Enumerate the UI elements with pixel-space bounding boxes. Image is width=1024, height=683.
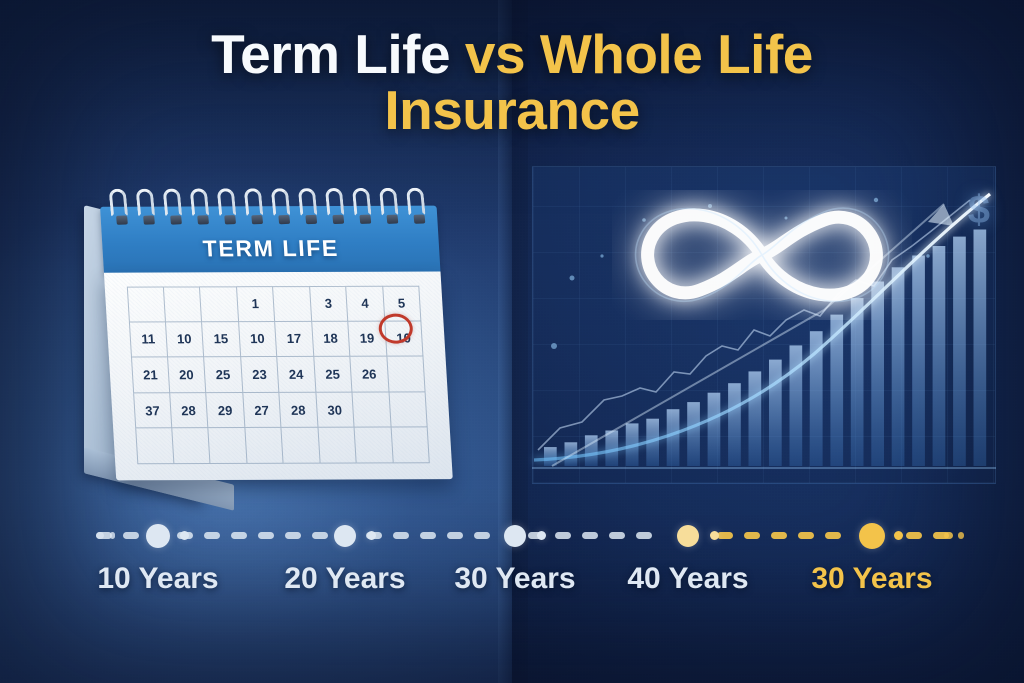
timeline-year-label: 10 Years xyxy=(58,562,258,596)
timeline-dash xyxy=(204,532,220,539)
timeline-dash xyxy=(231,532,247,539)
calendar-day-cell: 18 xyxy=(312,321,351,357)
timeline-dash xyxy=(123,532,139,539)
calendar-body: TERM LIFE 134511101510171819102120252324… xyxy=(99,188,453,485)
timeline-milestone-node[interactable] xyxy=(537,531,546,540)
calendar-day-cell: 25 xyxy=(204,357,243,393)
calendar-day-cell: 20 xyxy=(168,357,207,393)
years-timeline: 10 Years20 Years30 Years40 Years30 Years xyxy=(0,516,1024,626)
whole-life-graphic: $ xyxy=(524,160,1004,490)
timeline-milestone-node[interactable] xyxy=(677,525,699,547)
timeline-milestone-node[interactable] xyxy=(180,531,189,540)
timeline-dash xyxy=(285,532,301,539)
calendar-spiral-ring xyxy=(244,188,264,217)
calendar-day-cell: 17 xyxy=(275,321,314,357)
timeline-dash xyxy=(958,532,964,539)
calendar-day-cell: 10 xyxy=(165,322,204,358)
chart-bar xyxy=(544,447,557,466)
calendar-day-cell: 3 xyxy=(310,286,349,322)
timeline-milestone-node[interactable] xyxy=(334,525,356,547)
chart-bar xyxy=(953,237,966,466)
calendar-day-cell xyxy=(352,392,391,428)
timeline-dash xyxy=(312,532,328,539)
calendar-page: 1345111015101718191021202523242526372829… xyxy=(104,272,453,481)
page-title: Term Life vs Whole Life Insurance xyxy=(0,26,1024,138)
calendar-day-cell: 21 xyxy=(131,358,170,394)
calendar-day-cell xyxy=(355,428,394,464)
chart-bar xyxy=(933,246,946,466)
chart-bar xyxy=(769,360,782,466)
calendar-day-cell xyxy=(200,286,239,322)
calendar-spiral-ring xyxy=(190,188,210,217)
timeline-dash xyxy=(717,532,733,539)
calendar-spiral-ring xyxy=(271,188,291,217)
calendar-day-cell xyxy=(172,428,211,464)
calendar-day-cell xyxy=(318,428,357,464)
timeline-year-label: 30 Years xyxy=(415,562,615,596)
calendar-day-cell: 1 xyxy=(236,286,275,322)
timeline-dash xyxy=(825,532,841,539)
calendar-spiral-ring xyxy=(325,188,345,217)
timeline-milestone-node[interactable] xyxy=(859,523,885,549)
timeline-dash xyxy=(906,532,922,539)
calendar-spiral-ring xyxy=(352,188,372,217)
timeline-dash xyxy=(96,532,104,539)
timeline-milestone-node[interactable] xyxy=(146,524,170,548)
title-line-1: Term Life vs Whole Life xyxy=(0,26,1024,82)
timeline-dash xyxy=(258,532,274,539)
calendar-spiral-ring xyxy=(109,188,129,217)
calendar-day-cell: 10 xyxy=(239,322,278,358)
chart-bar xyxy=(851,298,864,466)
calendar-grid: 1345111015101718191021202523242526372829… xyxy=(127,286,430,465)
calendar-day-cell xyxy=(389,392,428,428)
calendar-day-cell xyxy=(273,286,312,322)
timeline-dash xyxy=(636,532,652,539)
calendar-spiral-ring xyxy=(217,188,237,217)
calendar-spiral-ring xyxy=(406,187,426,216)
chart-bar xyxy=(912,256,925,467)
timeline-dash xyxy=(944,532,953,539)
timeline-track xyxy=(0,516,1024,556)
dollar-sign-icon: $ xyxy=(968,188,990,233)
timeline-dash xyxy=(555,532,571,539)
calendar-day-cell: 28 xyxy=(279,393,318,429)
timeline-dash xyxy=(110,532,115,539)
timeline-labels: 10 Years20 Years30 Years40 Years30 Years xyxy=(0,562,1024,622)
calendar-day-cell xyxy=(127,286,166,322)
chart-bar xyxy=(728,383,741,466)
timeline-dash xyxy=(420,532,436,539)
calendar-day-cell: 26 xyxy=(350,357,389,393)
calendar-day-cell: 30 xyxy=(316,392,355,428)
timeline-year-label: 40 Years xyxy=(588,562,788,596)
calendar-day-cell: 24 xyxy=(277,357,316,393)
timeline-milestone-node[interactable] xyxy=(894,531,903,540)
calendar-day-cell: 11 xyxy=(129,322,168,358)
title-vs-whole-life: vs Whole Life xyxy=(465,23,813,85)
calendar-spiral-ring xyxy=(163,188,183,217)
calendar-day-cell xyxy=(163,286,202,322)
calendar-day-cell xyxy=(387,357,426,393)
calendar-day-cell: 10 xyxy=(385,321,424,357)
timeline-milestone-node[interactable] xyxy=(504,525,526,547)
calendar-day-cell: 23 xyxy=(241,357,280,393)
title-line-2: Insurance xyxy=(0,82,1024,138)
timeline-milestone-node[interactable] xyxy=(710,531,719,540)
calendar-day-cell xyxy=(135,429,174,465)
chart-bar xyxy=(708,393,721,466)
timeline-dash xyxy=(582,532,598,539)
timeline-year-label: 30 Years xyxy=(772,562,972,596)
calendar-spiral-ring xyxy=(298,188,318,217)
calendar-day-cell: 15 xyxy=(202,322,241,358)
insurance-comparison-graphic: Term Life vs Whole Life Insurance TERM L… xyxy=(0,0,1024,683)
term-life-calendar: TERM LIFE 134511101510171819102120252324… xyxy=(78,176,458,506)
chart-bar xyxy=(749,371,762,466)
calendar-day-cell xyxy=(245,428,284,464)
timeline-dash xyxy=(609,532,625,539)
chart-bar xyxy=(687,402,700,466)
timeline-dash xyxy=(744,532,760,539)
calendar-day-cell: 28 xyxy=(170,393,209,429)
timeline-dash xyxy=(474,532,490,539)
calendar-day-cell: 27 xyxy=(243,393,282,429)
calendar-spiral-binding xyxy=(103,188,436,229)
title-term-life: Term Life xyxy=(211,23,465,85)
calendar-day-cell: 4 xyxy=(346,286,385,322)
chart-bar xyxy=(667,409,680,466)
timeline-dash xyxy=(798,532,814,539)
calendar-day-cell: 29 xyxy=(206,393,245,429)
calendar-day-cell xyxy=(208,428,247,464)
calendar-day-cell: 25 xyxy=(314,357,353,393)
chart-bar xyxy=(974,230,987,467)
timeline-dash xyxy=(447,532,463,539)
calendar-day-cell: 37 xyxy=(133,393,172,429)
calendar-spiral-ring xyxy=(379,188,399,217)
calendar-spiral-ring xyxy=(136,188,156,217)
calendar-day-cell xyxy=(281,428,320,464)
calendar-day-cell xyxy=(391,428,430,464)
timeline-dash xyxy=(393,532,409,539)
infinity-icon xyxy=(612,190,912,320)
timeline-dash xyxy=(771,532,787,539)
timeline-milestone-node[interactable] xyxy=(367,531,376,540)
